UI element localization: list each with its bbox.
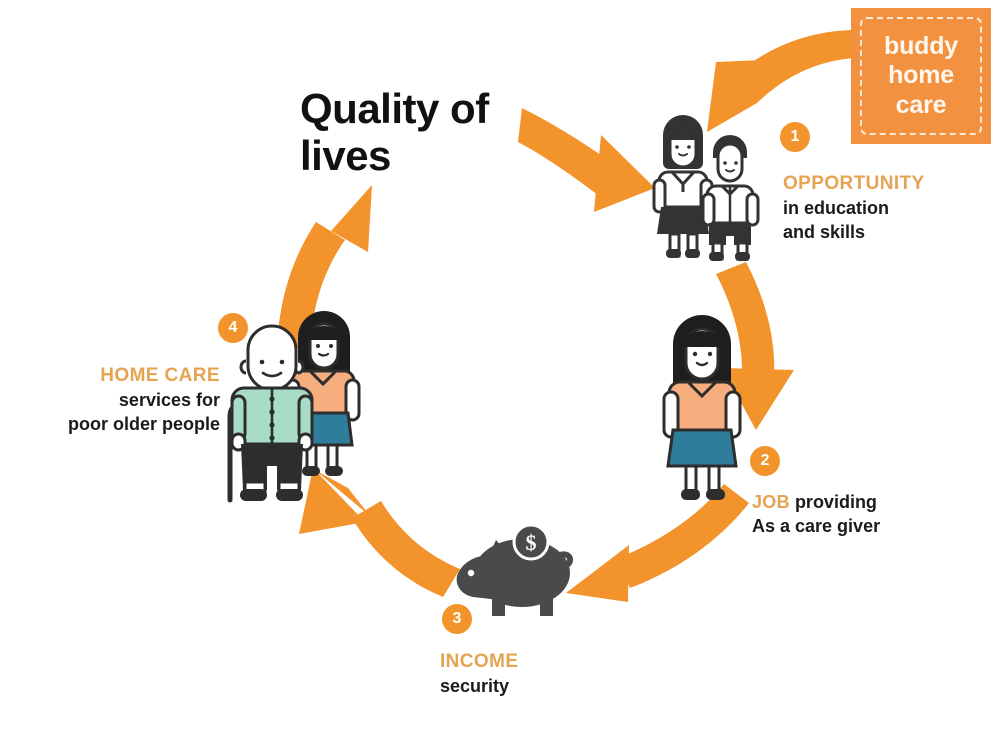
piggy-bank-icon: $ xyxy=(457,525,570,616)
page-title: Quality of lives xyxy=(300,85,560,179)
step-3-body-line-1: security xyxy=(440,674,620,698)
arrow-income-to-home-care xyxy=(299,468,460,597)
school-children-icon xyxy=(654,115,758,261)
logo-text: buddy home care xyxy=(884,32,958,121)
step-4-caption: HOME CARE services for poor older people xyxy=(25,364,220,436)
step-4-heading: HOME CARE xyxy=(25,364,220,388)
step-badge-4: 4 xyxy=(218,313,248,343)
step-1-caption: OPPORTUNITY in education and skills xyxy=(783,172,983,244)
step-3-caption: INCOME security xyxy=(440,650,620,698)
step-3-heading: INCOME xyxy=(440,650,620,674)
step-4-body-line-2: poor older people xyxy=(25,412,220,436)
step-2-line-1: JOB providing xyxy=(752,490,972,514)
svg-text:$: $ xyxy=(526,530,537,555)
care-giver-woman-icon xyxy=(664,315,740,500)
logo-line-1: buddy xyxy=(884,32,958,62)
arrow-brand-to-opportunity xyxy=(707,30,853,132)
arrow-job-to-income xyxy=(566,484,749,602)
step-2-caption: JOB providing As a care giver xyxy=(752,490,972,538)
diagram-canvas: $ xyxy=(0,0,1000,754)
step-1-body-line-1: in education xyxy=(783,196,983,220)
buddy-home-care-logo-box: buddy home care xyxy=(851,8,991,144)
step-badge-1: 1 xyxy=(780,122,810,152)
step-badge-3: 3 xyxy=(442,604,472,634)
step-2-heading: JOB xyxy=(752,492,790,512)
step-2-body-line-1: providing xyxy=(795,492,877,512)
step-4-body-line-1: services for xyxy=(25,388,220,412)
page-title-line-2: lives xyxy=(300,132,560,179)
step-1-body-line-2: and skills xyxy=(783,220,983,244)
logo-line-3: care xyxy=(884,91,958,121)
step-2-body-line-2: As a care giver xyxy=(752,514,972,538)
step-badge-2: 2 xyxy=(750,446,780,476)
step-1-heading: OPPORTUNITY xyxy=(783,172,983,196)
page-title-line-1: Quality of xyxy=(300,85,560,132)
elderly-couple-icon xyxy=(230,311,359,501)
logo-line-2: home xyxy=(884,61,958,91)
